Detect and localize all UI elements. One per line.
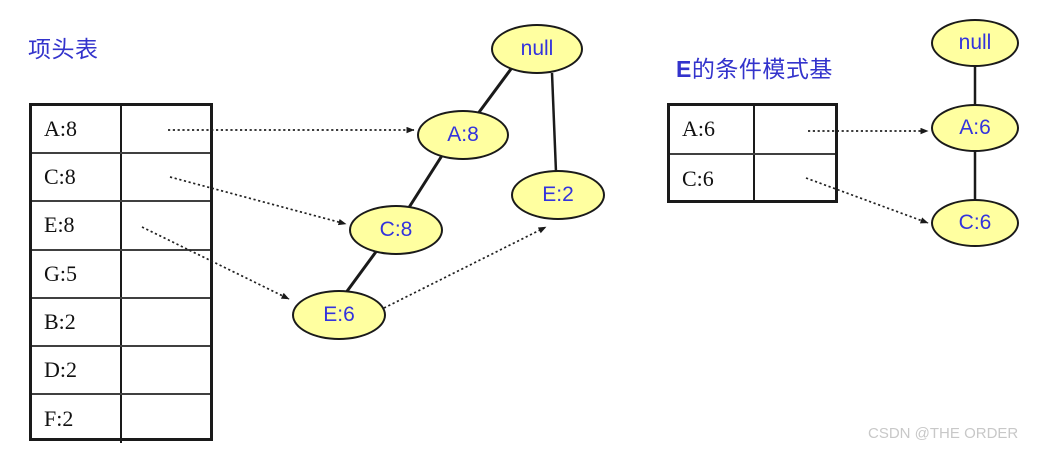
- diagram-canvas: 项头表 A:8C:8E:8G:5B:2D:2F:2 E的条件模式基 A:6C:6…: [0, 0, 1047, 454]
- row-label: C:6: [670, 155, 755, 204]
- row-link-cell[interactable]: [122, 347, 210, 393]
- tree-node-label: E:2: [542, 183, 574, 207]
- conditional-pattern-base-title: E的条件模式基: [676, 50, 833, 84]
- item-header-table: A:8C:8E:8G:5B:2D:2F:2: [29, 103, 213, 441]
- row-link-cell[interactable]: [755, 155, 835, 204]
- row-link-cell[interactable]: [755, 106, 835, 153]
- row-label: C:8: [32, 154, 122, 200]
- tree-node-label: A:6: [959, 116, 991, 140]
- tree-node-label: E:6: [323, 303, 355, 327]
- table-row[interactable]: C:8: [32, 154, 210, 202]
- row-label: D:2: [32, 347, 122, 393]
- edge-null-e2: [552, 73, 556, 172]
- row-link-cell[interactable]: [122, 106, 210, 152]
- row-link-cell[interactable]: [122, 251, 210, 297]
- tree-node-label: null: [959, 31, 992, 55]
- tree-node-c8-left[interactable]: C:8: [349, 205, 443, 255]
- row-label: G:5: [32, 251, 122, 297]
- table-row[interactable]: D:2: [32, 347, 210, 395]
- tree-node-label: C:6: [959, 211, 992, 235]
- heading-latin-prefix: E: [676, 56, 692, 82]
- table-row[interactable]: A:6: [670, 106, 835, 155]
- tree-node-c6-right[interactable]: C:6: [931, 199, 1019, 247]
- row-label: E:8: [32, 202, 122, 248]
- tree-node-null-right[interactable]: null: [931, 19, 1019, 67]
- table-row[interactable]: A:8: [32, 106, 210, 154]
- row-link-cell[interactable]: [122, 395, 210, 443]
- row-label: B:2: [32, 299, 122, 345]
- tree-node-e6-left[interactable]: E:6: [292, 290, 386, 340]
- tree-node-label: null: [521, 37, 554, 61]
- edge-null-a8: [477, 69, 511, 115]
- table-row[interactable]: C:6: [670, 155, 835, 204]
- conditional-pattern-base-table: A:6C:6: [667, 103, 838, 203]
- tree-node-null-left[interactable]: null: [491, 24, 583, 74]
- row-link-cell[interactable]: [122, 202, 210, 248]
- row-label: A:8: [32, 106, 122, 152]
- row-link-cell[interactable]: [122, 154, 210, 200]
- table-row[interactable]: B:2: [32, 299, 210, 347]
- table-row[interactable]: G:5: [32, 251, 210, 299]
- table-row[interactable]: E:8: [32, 202, 210, 250]
- tree-node-a8-left[interactable]: A:8: [417, 110, 509, 160]
- tree-node-e2-left[interactable]: E:2: [511, 170, 605, 220]
- tree-node-label: C:8: [380, 218, 413, 242]
- edge-c8-e6: [345, 249, 378, 294]
- row-label: F:2: [32, 395, 122, 443]
- row-link-cell[interactable]: [122, 299, 210, 345]
- tree-node-label: A:8: [447, 123, 479, 147]
- table-row[interactable]: F:2: [32, 395, 210, 443]
- edge-a8-c8: [408, 154, 443, 209]
- row-label: A:6: [670, 106, 755, 153]
- heading-cjk-rest: 的条件模式基: [692, 56, 833, 82]
- tree-node-a6-right[interactable]: A:6: [931, 104, 1019, 152]
- item-header-table-title: 项头表: [28, 30, 99, 64]
- watermark-text: CSDN @THE ORDER: [868, 425, 1018, 442]
